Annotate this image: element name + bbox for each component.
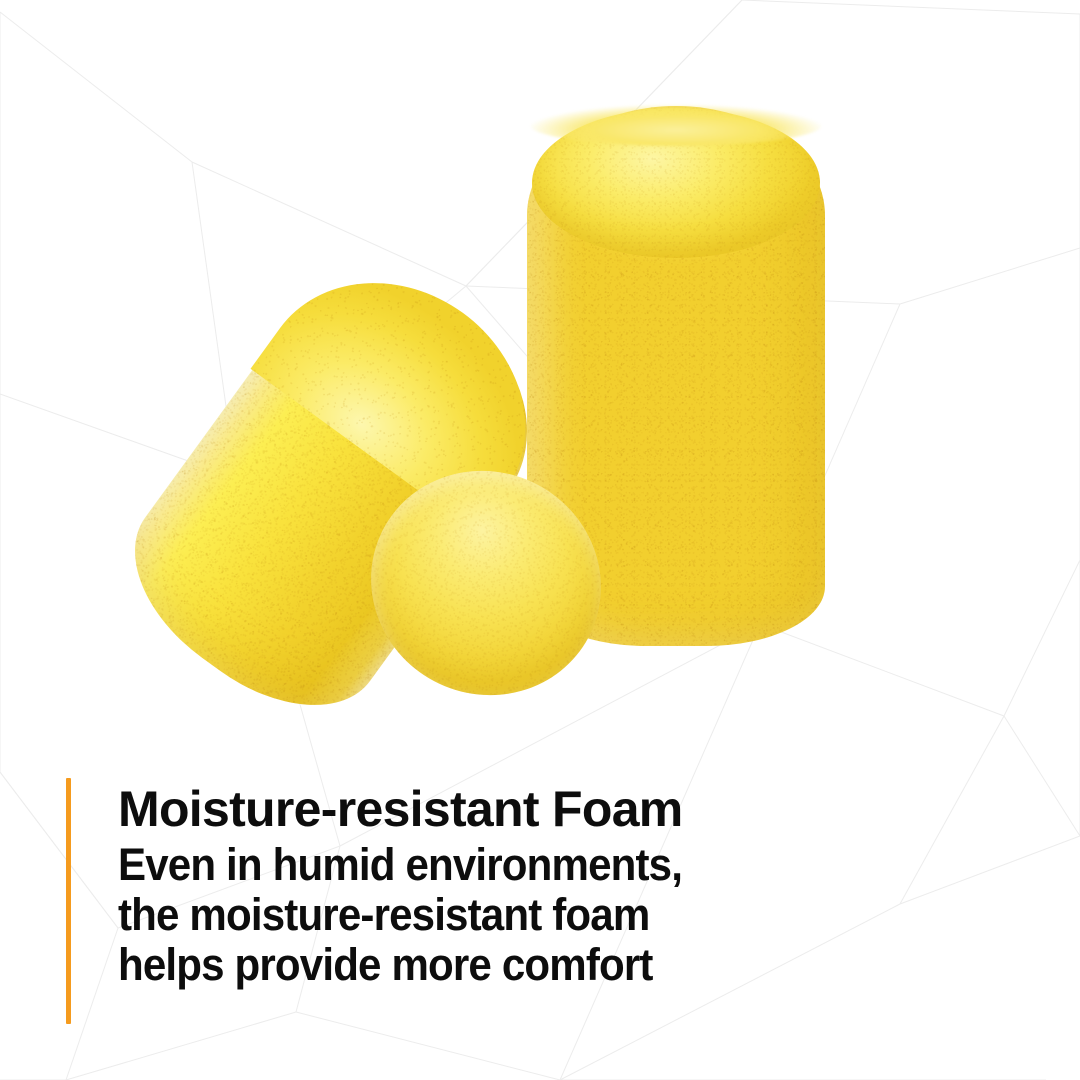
caption-body-line-3: helps provide more comfort bbox=[118, 940, 682, 990]
caption-text-group: Moisture-resistant Foam Even in humid en… bbox=[118, 778, 721, 1024]
caption-block: Moisture-resistant Foam Even in humid en… bbox=[66, 778, 721, 1024]
product-photo bbox=[0, 0, 1080, 780]
product-feature-card: Moisture-resistant Foam Even in humid en… bbox=[0, 0, 1080, 1080]
caption-body-line-2: the moisture-resistant foam bbox=[118, 890, 682, 940]
standing-earplug-rim-highlight bbox=[530, 104, 822, 146]
caption-body-line-1: Even in humid environments, bbox=[118, 840, 682, 890]
mesh-line bbox=[900, 836, 1080, 904]
orange-accent-bar bbox=[66, 778, 71, 1024]
caption-heading: Moisture-resistant Foam bbox=[118, 778, 721, 840]
